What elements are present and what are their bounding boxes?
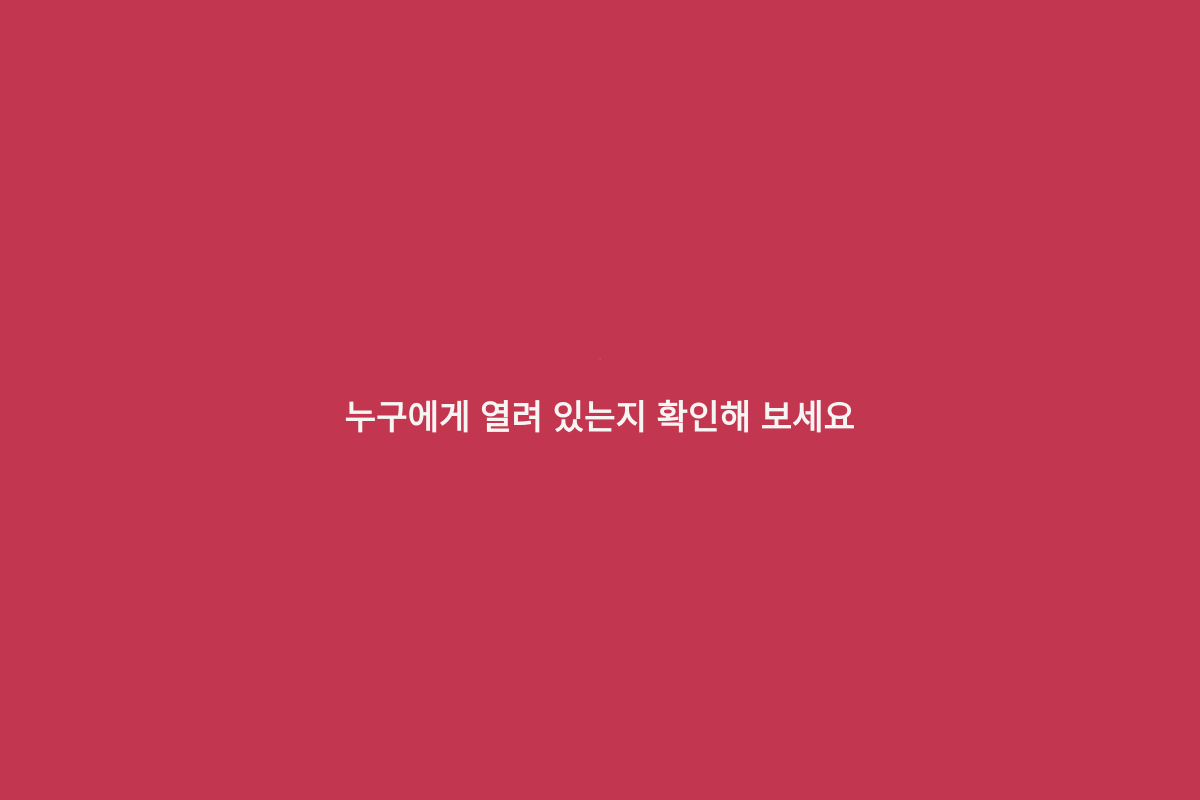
headline-line-3: 누구에게 열려 있는지 확인해 보세요 (0, 401, 1200, 435)
headline-block: 대통령 디지털 굿즈 신청 자격 요건 누구에게 열려 있는지 확인해 보세요 (0, 359, 1200, 435)
title-card: 대통령 디지털 굿즈 신청 자격 요건 누구에게 열려 있는지 확인해 보세요 (0, 0, 1200, 800)
